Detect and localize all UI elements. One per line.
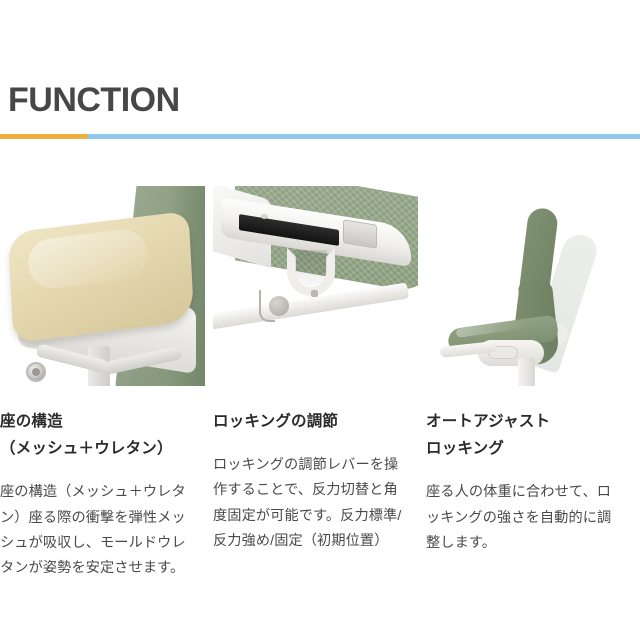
- title-divider: [0, 134, 640, 139]
- heading-line-2: （メッシュ＋ウレタン）: [0, 435, 200, 462]
- chair-caster-hub: [32, 368, 40, 376]
- feature-column-auto-adjust-rocking: オートアジャスト ロッキング 座る人の体重に合わせて、ロッキングの強さを自動的に…: [426, 186, 639, 581]
- bracket-screw: [311, 290, 318, 297]
- heading-line-2: ロッキング: [426, 435, 626, 462]
- auto-adjust-rocking-photo: [426, 186, 631, 386]
- title-divider-accent: [0, 134, 88, 139]
- heading-line-1: ロッキングの調節: [213, 408, 413, 435]
- feature-body-seat-structure: 座の構造（メッシュ＋ウレタン）座る際の衝撃を弾性メッシュが吸収し、モールドウレタ…: [0, 480, 198, 581]
- frame-rivet: [261, 214, 268, 219]
- heading-line-1: オートアジャスト: [426, 408, 626, 435]
- feature-heading-auto-adjust-rocking: オートアジャスト ロッキング: [426, 408, 626, 462]
- chair-gas-column: [518, 358, 535, 386]
- hook-shadow: [295, 250, 327, 286]
- seat-structure-photo: [0, 186, 205, 386]
- heading-line-1: 座の構造: [0, 408, 200, 435]
- feature-columns: 座の構造 （メッシュ＋ウレタン） 座の構造（メッシュ＋ウレタン）座る際の衝撃を弾…: [0, 186, 640, 581]
- adjustment-knob: [269, 296, 289, 316]
- feature-heading-rocking-adjustment: ロッキングの調節: [213, 408, 413, 435]
- feature-body-rocking-adjustment: ロッキングの調節レバーを操作することで、反力切替と角度固定が可能です。反力標準/…: [213, 453, 411, 554]
- page-title: FUNCTION: [8, 83, 180, 117]
- rocking-lever-photo: [213, 186, 418, 386]
- feature-body-auto-adjust-rocking: 座る人の体重に合わせて、ロッキングの強さを自動的に調整します。: [426, 480, 624, 556]
- feature-column-seat-structure: 座の構造 （メッシュ＋ウレタン） 座の構造（メッシュ＋ウレタン）座る際の衝撃を弾…: [0, 186, 213, 581]
- feature-column-rocking-adjustment: ロッキングの調節 ロッキングの調節レバーを操作することで、反力切替と角度固定が可…: [213, 186, 426, 581]
- feature-heading-seat-structure: 座の構造 （メッシュ＋ウレタン）: [0, 408, 200, 462]
